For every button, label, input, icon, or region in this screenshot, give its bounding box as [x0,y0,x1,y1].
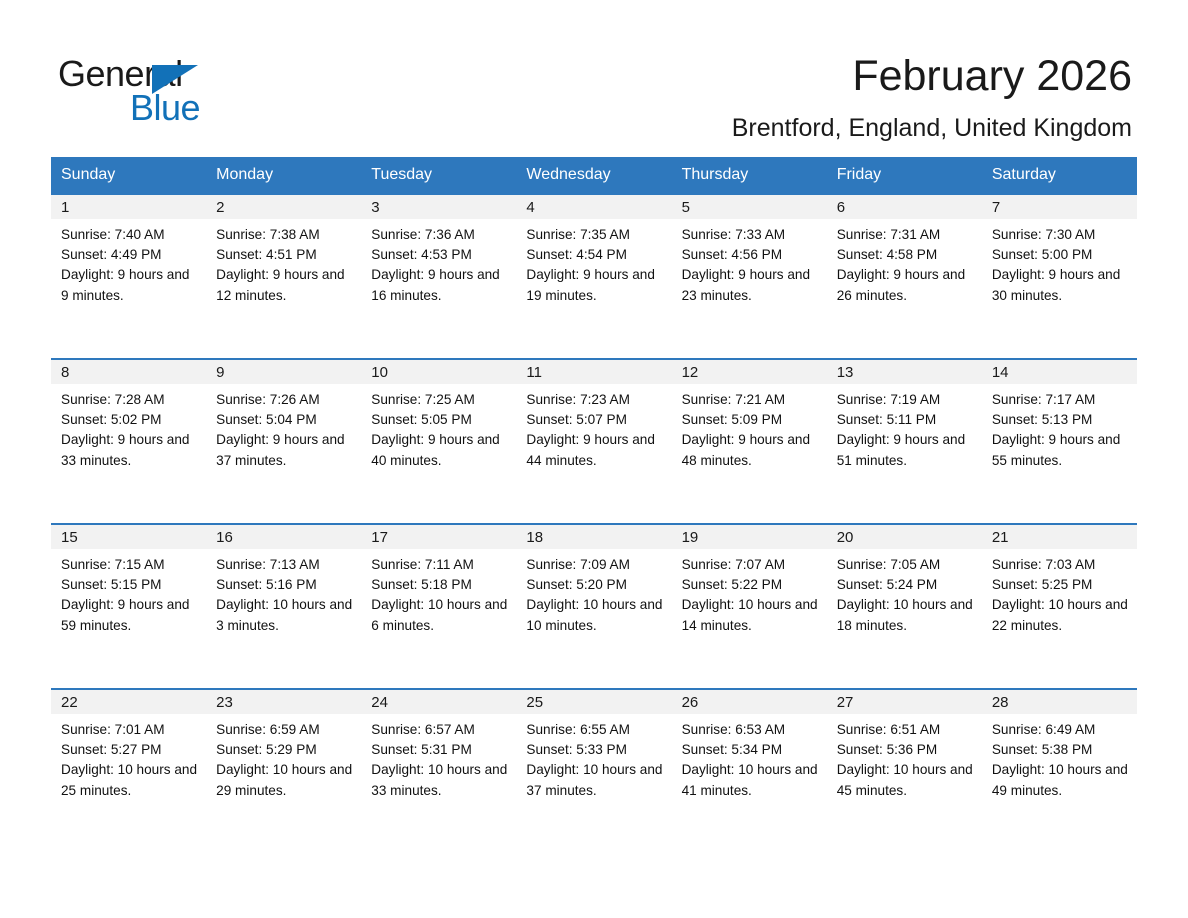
sunrise-text: Sunrise: 7:15 AM [61,555,200,575]
sunset-text: Sunset: 5:29 PM [216,740,355,760]
sunrise-text: Sunrise: 7:09 AM [526,555,665,575]
day-details: Sunrise: 7:15 AMSunset: 5:15 PMDaylight:… [51,549,206,636]
daylight-text: Daylight: 9 hours and 12 minutes. [216,265,355,305]
sunrise-text: Sunrise: 6:59 AM [216,720,355,740]
day-details: Sunrise: 6:55 AMSunset: 5:33 PMDaylight:… [516,714,671,801]
day-number: 18 [516,525,671,549]
day-details: Sunrise: 7:23 AMSunset: 5:07 PMDaylight:… [516,384,671,471]
calendar-day-cell[interactable]: 19Sunrise: 7:07 AMSunset: 5:22 PMDayligh… [672,523,827,688]
sunrise-text: Sunrise: 7:13 AM [216,555,355,575]
day-number: 15 [51,525,206,549]
sunrise-text: Sunrise: 6:55 AM [526,720,665,740]
day-details: Sunrise: 7:30 AMSunset: 5:00 PMDaylight:… [982,219,1137,306]
sunrise-text: Sunrise: 7:38 AM [216,225,355,245]
day-cell-inner: 23Sunrise: 6:59 AMSunset: 5:29 PMDayligh… [206,688,361,853]
sunrise-text: Sunrise: 7:23 AM [526,390,665,410]
day-cell-inner: 24Sunrise: 6:57 AMSunset: 5:31 PMDayligh… [361,688,516,853]
day-details: Sunrise: 6:49 AMSunset: 5:38 PMDaylight:… [982,714,1137,801]
day-number: 17 [361,525,516,549]
calendar-day-cell[interactable]: 25Sunrise: 6:55 AMSunset: 5:33 PMDayligh… [516,688,671,853]
sunrise-text: Sunrise: 7:19 AM [837,390,976,410]
sunrise-text: Sunrise: 6:57 AM [371,720,510,740]
general-blue-logo: General Blue [58,52,318,128]
day-cell-inner: 18Sunrise: 7:09 AMSunset: 5:20 PMDayligh… [516,523,671,688]
sunset-text: Sunset: 5:27 PM [61,740,200,760]
day-number: 20 [827,525,982,549]
day-cell-inner: 5Sunrise: 7:33 AMSunset: 4:56 PMDaylight… [672,193,827,358]
sunrise-text: Sunrise: 6:53 AM [682,720,821,740]
calendar-day-cell[interactable]: 22Sunrise: 7:01 AMSunset: 5:27 PMDayligh… [51,688,206,853]
day-details: Sunrise: 7:33 AMSunset: 4:56 PMDaylight:… [672,219,827,306]
sunrise-text: Sunrise: 7:03 AM [992,555,1131,575]
day-details: Sunrise: 7:19 AMSunset: 5:11 PMDaylight:… [827,384,982,471]
sunset-text: Sunset: 5:05 PM [371,410,510,430]
day-number: 8 [51,360,206,384]
weekday-header-monday: Monday [206,157,361,193]
sunrise-text: Sunrise: 7:26 AM [216,390,355,410]
calendar-week-row: 15Sunrise: 7:15 AMSunset: 5:15 PMDayligh… [51,523,1137,688]
day-cell-inner: 20Sunrise: 7:05 AMSunset: 5:24 PMDayligh… [827,523,982,688]
sunrise-text: Sunrise: 7:31 AM [837,225,976,245]
day-number: 13 [827,360,982,384]
logo-text-blue: Blue [130,86,200,130]
calendar-day-cell[interactable]: 8Sunrise: 7:28 AMSunset: 5:02 PMDaylight… [51,358,206,523]
day-cell-inner: 3Sunrise: 7:36 AMSunset: 4:53 PMDaylight… [361,193,516,358]
calendar-body: 1Sunrise: 7:40 AMSunset: 4:49 PMDaylight… [51,193,1137,853]
day-number: 7 [982,195,1137,219]
day-number: 12 [672,360,827,384]
daylight-text: Daylight: 9 hours and 55 minutes. [992,430,1131,470]
daylight-text: Daylight: 9 hours and 40 minutes. [371,430,510,470]
day-details: Sunrise: 6:51 AMSunset: 5:36 PMDaylight:… [827,714,982,801]
day-details: Sunrise: 7:03 AMSunset: 5:25 PMDaylight:… [982,549,1137,636]
sunrise-text: Sunrise: 6:49 AM [992,720,1131,740]
weekday-header-tuesday: Tuesday [361,157,516,193]
day-number: 27 [827,690,982,714]
day-details: Sunrise: 7:13 AMSunset: 5:16 PMDaylight:… [206,549,361,636]
day-number: 23 [206,690,361,714]
sunset-text: Sunset: 5:38 PM [992,740,1131,760]
calendar-week-row: 1Sunrise: 7:40 AMSunset: 4:49 PMDaylight… [51,193,1137,358]
sunrise-text: Sunrise: 7:17 AM [992,390,1131,410]
day-details: Sunrise: 7:38 AMSunset: 4:51 PMDaylight:… [206,219,361,306]
daylight-text: Daylight: 9 hours and 19 minutes. [526,265,665,305]
sunset-text: Sunset: 4:53 PM [371,245,510,265]
title-block: February 2026 Brentford, England, United… [732,50,1132,143]
daylight-text: Daylight: 9 hours and 9 minutes. [61,265,200,305]
day-cell-inner: 26Sunrise: 6:53 AMSunset: 5:34 PMDayligh… [672,688,827,853]
day-number: 6 [827,195,982,219]
day-number: 28 [982,690,1137,714]
day-cell-inner: 6Sunrise: 7:31 AMSunset: 4:58 PMDaylight… [827,193,982,358]
sunrise-text: Sunrise: 7:33 AM [682,225,821,245]
day-details: Sunrise: 7:31 AMSunset: 4:58 PMDaylight:… [827,219,982,306]
daylight-text: Daylight: 9 hours and 59 minutes. [61,595,200,635]
sunset-text: Sunset: 4:58 PM [837,245,976,265]
day-number: 3 [361,195,516,219]
day-details: Sunrise: 7:05 AMSunset: 5:24 PMDaylight:… [827,549,982,636]
daylight-text: Daylight: 10 hours and 49 minutes. [992,760,1131,800]
day-cell-inner: 16Sunrise: 7:13 AMSunset: 5:16 PMDayligh… [206,523,361,688]
calendar-day-cell[interactable]: 9Sunrise: 7:26 AMSunset: 5:04 PMDaylight… [206,358,361,523]
sunset-text: Sunset: 5:00 PM [992,245,1131,265]
sunset-text: Sunset: 5:15 PM [61,575,200,595]
daylight-text: Daylight: 10 hours and 37 minutes. [526,760,665,800]
daylight-text: Daylight: 10 hours and 10 minutes. [526,595,665,635]
sunset-text: Sunset: 5:20 PM [526,575,665,595]
day-number: 9 [206,360,361,384]
day-number: 1 [51,195,206,219]
daylight-text: Daylight: 9 hours and 44 minutes. [526,430,665,470]
day-cell-inner: 7Sunrise: 7:30 AMSunset: 5:00 PMDaylight… [982,193,1137,358]
day-number: 11 [516,360,671,384]
sunrise-text: Sunrise: 7:28 AM [61,390,200,410]
sunset-text: Sunset: 5:09 PM [682,410,821,430]
calendar-day-cell[interactable]: 14Sunrise: 7:17 AMSunset: 5:13 PMDayligh… [982,358,1137,523]
day-details: Sunrise: 7:21 AMSunset: 5:09 PMDaylight:… [672,384,827,471]
calendar-day-cell[interactable]: 24Sunrise: 6:57 AMSunset: 5:31 PMDayligh… [361,688,516,853]
daylight-text: Daylight: 9 hours and 16 minutes. [371,265,510,305]
weekday-header-row: Sunday Monday Tuesday Wednesday Thursday… [51,157,1137,193]
calendar-day-cell[interactable]: 11Sunrise: 7:23 AMSunset: 5:07 PMDayligh… [516,358,671,523]
calendar-day-cell[interactable]: 26Sunrise: 6:53 AMSunset: 5:34 PMDayligh… [672,688,827,853]
sunrise-text: Sunrise: 7:36 AM [371,225,510,245]
sunset-text: Sunset: 5:31 PM [371,740,510,760]
calendar-day-cell[interactable]: 18Sunrise: 7:09 AMSunset: 5:20 PMDayligh… [516,523,671,688]
day-details: Sunrise: 7:35 AMSunset: 4:54 PMDaylight:… [516,219,671,306]
weekday-header-sunday: Sunday [51,157,206,193]
calendar-day-cell[interactable]: 3Sunrise: 7:36 AMSunset: 4:53 PMDaylight… [361,193,516,358]
day-cell-inner: 15Sunrise: 7:15 AMSunset: 5:15 PMDayligh… [51,523,206,688]
sunrise-text: Sunrise: 7:07 AM [682,555,821,575]
calendar-day-cell[interactable]: 15Sunrise: 7:15 AMSunset: 5:15 PMDayligh… [51,523,206,688]
day-cell-inner: 21Sunrise: 7:03 AMSunset: 5:25 PMDayligh… [982,523,1137,688]
calendar-day-cell[interactable]: 6Sunrise: 7:31 AMSunset: 4:58 PMDaylight… [827,193,982,358]
daylight-text: Daylight: 9 hours and 37 minutes. [216,430,355,470]
calendar-day-cell[interactable]: 4Sunrise: 7:35 AMSunset: 4:54 PMDaylight… [516,193,671,358]
sunrise-text: Sunrise: 7:25 AM [371,390,510,410]
daylight-text: Daylight: 10 hours and 18 minutes. [837,595,976,635]
day-number: 25 [516,690,671,714]
day-cell-inner: 14Sunrise: 7:17 AMSunset: 5:13 PMDayligh… [982,358,1137,523]
sunrise-text: Sunrise: 6:51 AM [837,720,976,740]
sunset-text: Sunset: 5:04 PM [216,410,355,430]
calendar-day-cell[interactable]: 17Sunrise: 7:11 AMSunset: 5:18 PMDayligh… [361,523,516,688]
day-number: 5 [672,195,827,219]
day-cell-inner: 9Sunrise: 7:26 AMSunset: 5:04 PMDaylight… [206,358,361,523]
calendar-day-cell[interactable]: 16Sunrise: 7:13 AMSunset: 5:16 PMDayligh… [206,523,361,688]
day-cell-inner: 22Sunrise: 7:01 AMSunset: 5:27 PMDayligh… [51,688,206,853]
day-details: Sunrise: 7:26 AMSunset: 5:04 PMDaylight:… [206,384,361,471]
day-number: 24 [361,690,516,714]
calendar-week-row: 8Sunrise: 7:28 AMSunset: 5:02 PMDaylight… [51,358,1137,523]
sunset-text: Sunset: 5:11 PM [837,410,976,430]
page-header: General Blue February 2026 Brentford, En… [0,0,1188,155]
day-details: Sunrise: 7:40 AMSunset: 4:49 PMDaylight:… [51,219,206,306]
daylight-text: Daylight: 10 hours and 3 minutes. [216,595,355,635]
day-cell-inner: 13Sunrise: 7:19 AMSunset: 5:11 PMDayligh… [827,358,982,523]
weekday-header-saturday: Saturday [982,157,1137,193]
sunset-text: Sunset: 5:33 PM [526,740,665,760]
sunrise-text: Sunrise: 7:40 AM [61,225,200,245]
calendar-day-cell[interactable]: 20Sunrise: 7:05 AMSunset: 5:24 PMDayligh… [827,523,982,688]
day-number: 16 [206,525,361,549]
day-cell-inner: 1Sunrise: 7:40 AMSunset: 4:49 PMDaylight… [51,193,206,358]
day-number: 2 [206,195,361,219]
daylight-text: Daylight: 10 hours and 25 minutes. [61,760,200,800]
daylight-text: Daylight: 10 hours and 6 minutes. [371,595,510,635]
day-cell-inner: 11Sunrise: 7:23 AMSunset: 5:07 PMDayligh… [516,358,671,523]
day-number: 14 [982,360,1137,384]
day-details: Sunrise: 7:28 AMSunset: 5:02 PMDaylight:… [51,384,206,471]
day-details: Sunrise: 7:07 AMSunset: 5:22 PMDaylight:… [672,549,827,636]
calendar-day-cell[interactable]: 23Sunrise: 6:59 AMSunset: 5:29 PMDayligh… [206,688,361,853]
daylight-text: Daylight: 10 hours and 45 minutes. [837,760,976,800]
calendar-day-cell[interactable]: 21Sunrise: 7:03 AMSunset: 5:25 PMDayligh… [982,523,1137,688]
sunrise-text: Sunrise: 7:30 AM [992,225,1131,245]
weekday-header-wednesday: Wednesday [516,157,671,193]
weekday-header-friday: Friday [827,157,982,193]
day-details: Sunrise: 7:25 AMSunset: 5:05 PMDaylight:… [361,384,516,471]
day-details: Sunrise: 7:36 AMSunset: 4:53 PMDaylight:… [361,219,516,306]
sunrise-text: Sunrise: 7:11 AM [371,555,510,575]
daylight-text: Daylight: 10 hours and 41 minutes. [682,760,821,800]
day-details: Sunrise: 6:59 AMSunset: 5:29 PMDaylight:… [206,714,361,801]
sunset-text: Sunset: 5:24 PM [837,575,976,595]
day-number: 26 [672,690,827,714]
sunset-text: Sunset: 4:49 PM [61,245,200,265]
daylight-text: Daylight: 9 hours and 33 minutes. [61,430,200,470]
location-subtitle: Brentford, England, United Kingdom [732,113,1132,143]
weekday-header-thursday: Thursday [672,157,827,193]
calendar-day-cell[interactable]: 1Sunrise: 7:40 AMSunset: 4:49 PMDaylight… [51,193,206,358]
calendar-day-cell[interactable]: 5Sunrise: 7:33 AMSunset: 4:56 PMDaylight… [672,193,827,358]
day-cell-inner: 28Sunrise: 6:49 AMSunset: 5:38 PMDayligh… [982,688,1137,853]
daylight-text: Daylight: 10 hours and 29 minutes. [216,760,355,800]
day-cell-inner: 2Sunrise: 7:38 AMSunset: 4:51 PMDaylight… [206,193,361,358]
day-details: Sunrise: 7:01 AMSunset: 5:27 PMDaylight:… [51,714,206,801]
day-number: 19 [672,525,827,549]
page-title: February 2026 [732,50,1132,102]
sunset-text: Sunset: 5:16 PM [216,575,355,595]
daylight-text: Daylight: 9 hours and 51 minutes. [837,430,976,470]
daylight-text: Daylight: 10 hours and 33 minutes. [371,760,510,800]
calendar-day-cell[interactable]: 28Sunrise: 6:49 AMSunset: 5:38 PMDayligh… [982,688,1137,853]
sunrise-sunset-calendar: Sunday Monday Tuesday Wednesday Thursday… [51,157,1137,853]
sunset-text: Sunset: 5:34 PM [682,740,821,760]
calendar-day-cell[interactable]: 27Sunrise: 6:51 AMSunset: 5:36 PMDayligh… [827,688,982,853]
daylight-text: Daylight: 9 hours and 26 minutes. [837,265,976,305]
sunset-text: Sunset: 4:56 PM [682,245,821,265]
day-details: Sunrise: 6:53 AMSunset: 5:34 PMDaylight:… [672,714,827,801]
day-details: Sunrise: 7:17 AMSunset: 5:13 PMDaylight:… [982,384,1137,471]
day-details: Sunrise: 7:09 AMSunset: 5:20 PMDaylight:… [516,549,671,636]
day-cell-inner: 12Sunrise: 7:21 AMSunset: 5:09 PMDayligh… [672,358,827,523]
sunrise-text: Sunrise: 7:35 AM [526,225,665,245]
sunset-text: Sunset: 5:02 PM [61,410,200,430]
day-cell-inner: 25Sunrise: 6:55 AMSunset: 5:33 PMDayligh… [516,688,671,853]
sunrise-text: Sunrise: 7:05 AM [837,555,976,575]
sunset-text: Sunset: 5:07 PM [526,410,665,430]
sunset-text: Sunset: 5:25 PM [992,575,1131,595]
daylight-text: Daylight: 10 hours and 14 minutes. [682,595,821,635]
sunset-text: Sunset: 5:18 PM [371,575,510,595]
day-number: 21 [982,525,1137,549]
calendar-day-cell[interactable]: 12Sunrise: 7:21 AMSunset: 5:09 PMDayligh… [672,358,827,523]
calendar-day-cell[interactable]: 2Sunrise: 7:38 AMSunset: 4:51 PMDaylight… [206,193,361,358]
daylight-text: Daylight: 10 hours and 22 minutes. [992,595,1131,635]
day-cell-inner: 4Sunrise: 7:35 AMSunset: 4:54 PMDaylight… [516,193,671,358]
day-cell-inner: 17Sunrise: 7:11 AMSunset: 5:18 PMDayligh… [361,523,516,688]
daylight-text: Daylight: 9 hours and 30 minutes. [992,265,1131,305]
calendar-day-cell[interactable]: 13Sunrise: 7:19 AMSunset: 5:11 PMDayligh… [827,358,982,523]
sunset-text: Sunset: 4:51 PM [216,245,355,265]
day-details: Sunrise: 6:57 AMSunset: 5:31 PMDaylight:… [361,714,516,801]
day-number: 10 [361,360,516,384]
calendar-day-cell[interactable]: 10Sunrise: 7:25 AMSunset: 5:05 PMDayligh… [361,358,516,523]
day-cell-inner: 19Sunrise: 7:07 AMSunset: 5:22 PMDayligh… [672,523,827,688]
daylight-text: Daylight: 9 hours and 23 minutes. [682,265,821,305]
day-number: 4 [516,195,671,219]
sunset-text: Sunset: 5:22 PM [682,575,821,595]
day-number: 22 [51,690,206,714]
calendar-week-row: 22Sunrise: 7:01 AMSunset: 5:27 PMDayligh… [51,688,1137,853]
sunset-text: Sunset: 5:13 PM [992,410,1131,430]
daylight-text: Daylight: 9 hours and 48 minutes. [682,430,821,470]
sunset-text: Sunset: 5:36 PM [837,740,976,760]
sunrise-text: Sunrise: 7:21 AM [682,390,821,410]
day-cell-inner: 8Sunrise: 7:28 AMSunset: 5:02 PMDaylight… [51,358,206,523]
calendar-day-cell[interactable]: 7Sunrise: 7:30 AMSunset: 5:00 PMDaylight… [982,193,1137,358]
sunset-text: Sunset: 4:54 PM [526,245,665,265]
calendar-page: General Blue February 2026 Brentford, En… [0,0,1188,918]
day-details: Sunrise: 7:11 AMSunset: 5:18 PMDaylight:… [361,549,516,636]
day-cell-inner: 10Sunrise: 7:25 AMSunset: 5:05 PMDayligh… [361,358,516,523]
day-cell-inner: 27Sunrise: 6:51 AMSunset: 5:36 PMDayligh… [827,688,982,853]
sunrise-text: Sunrise: 7:01 AM [61,720,200,740]
